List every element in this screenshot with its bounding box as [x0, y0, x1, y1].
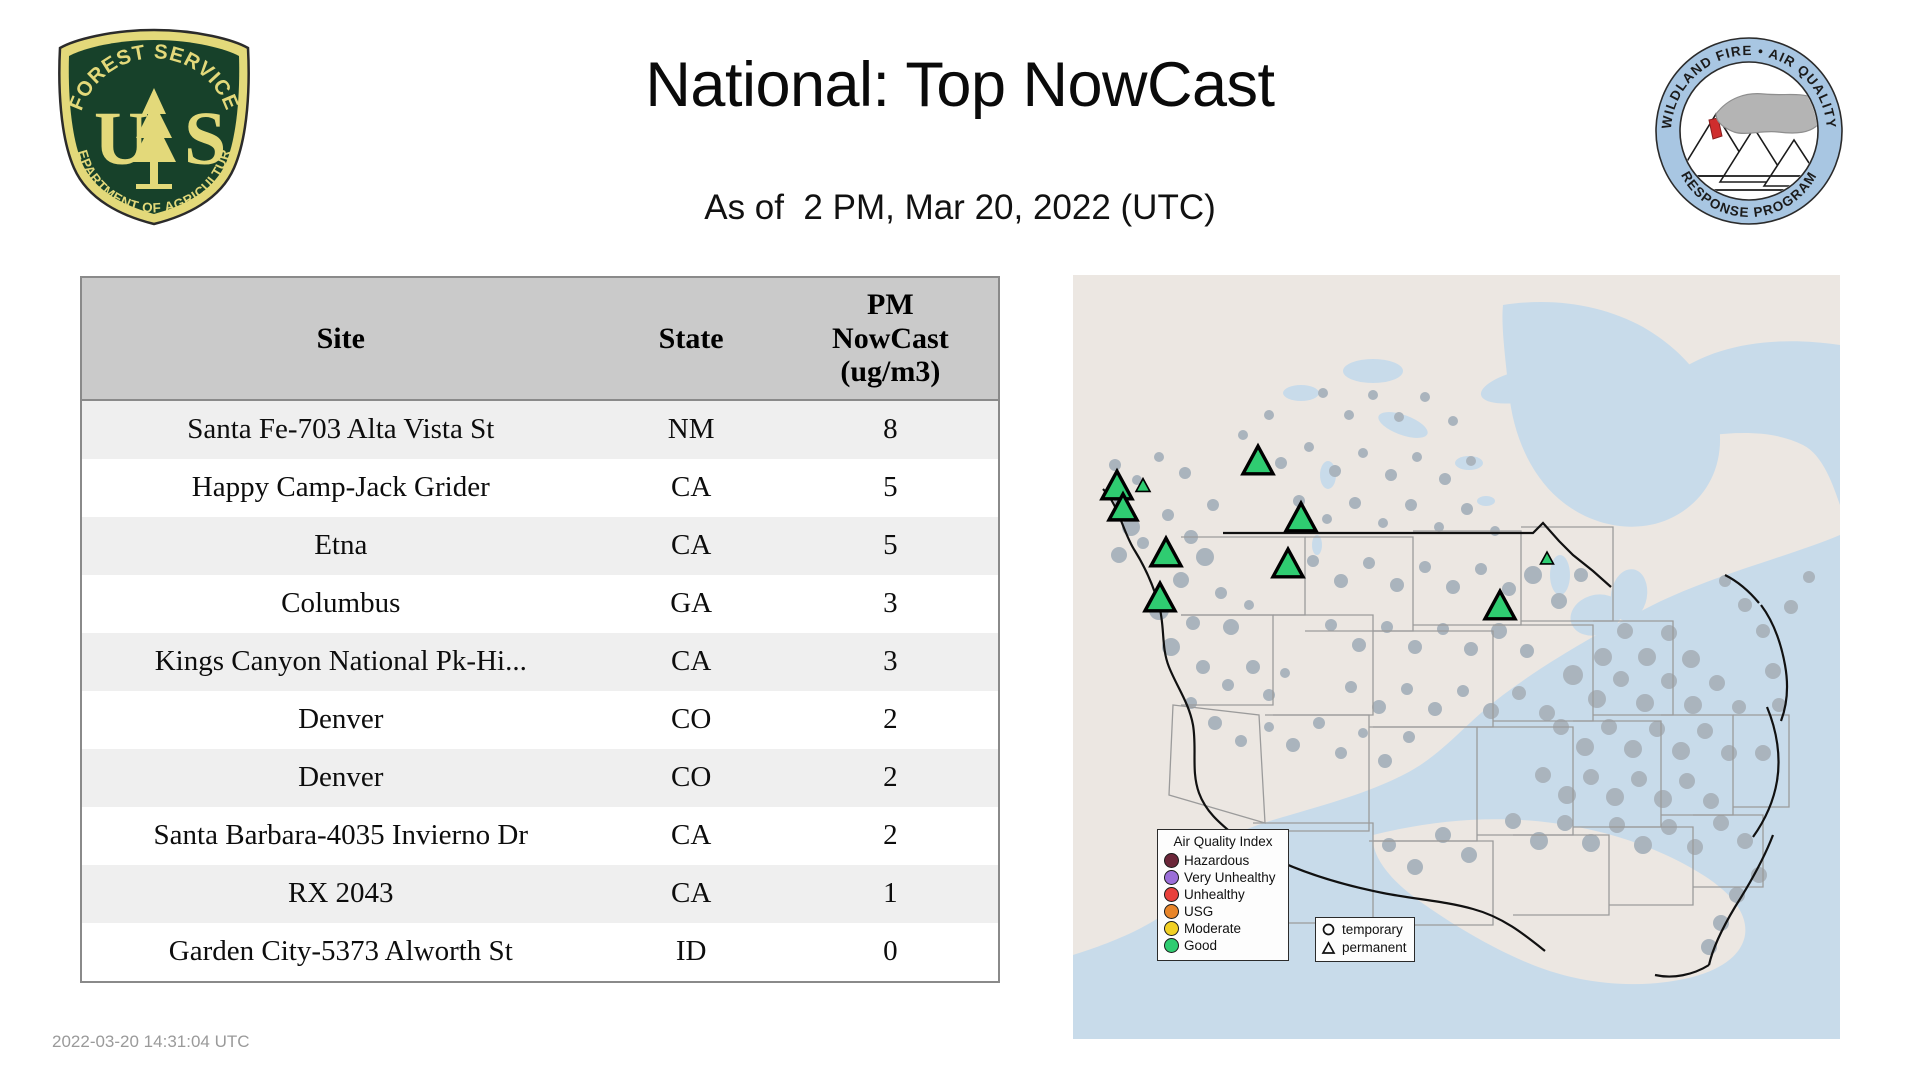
site-cell: Happy Camp-Jack Grider	[82, 459, 600, 517]
state-cell: CA	[600, 807, 783, 865]
column-header-pm-line3: (ug/m3)	[787, 355, 994, 389]
state-cell: CO	[600, 691, 783, 749]
pm-cell: 1	[783, 865, 998, 923]
state-cell: NM	[600, 400, 783, 459]
legend-row-moderate: Moderate	[1164, 920, 1282, 937]
aqi-color-swatch-icon	[1164, 904, 1179, 919]
legend-row-unhealthy: Unhealthy	[1164, 886, 1282, 903]
state-cell: CA	[600, 459, 783, 517]
state-cell: CA	[600, 633, 783, 691]
legend-row-temporary: temporary	[1321, 921, 1407, 939]
table-header-row: Site State PM NowCast (ug/m3)	[82, 278, 998, 400]
table-row[interactable]: DenverCO2	[82, 691, 998, 749]
legend-label: Very Unhealthy	[1184, 871, 1276, 885]
pm-cell: 5	[783, 517, 998, 575]
site-cell: Denver	[82, 691, 600, 749]
table-row[interactable]: Garden City-5373 Alworth StID0	[82, 923, 998, 981]
pm-cell: 2	[783, 749, 998, 807]
column-header-pm-nowcast[interactable]: PM NowCast (ug/m3)	[783, 278, 998, 400]
legend-label: Good	[1184, 939, 1217, 953]
pm-cell: 0	[783, 923, 998, 981]
table-header: Site State PM NowCast (ug/m3)	[82, 278, 998, 400]
column-header-pm-line2: NowCast	[787, 322, 994, 356]
table-row[interactable]: Happy Camp-Jack GriderCA5	[82, 459, 998, 517]
aqi-color-swatch-icon	[1164, 921, 1179, 936]
legend-label: Moderate	[1184, 922, 1241, 936]
column-header-pm-line1: PM	[787, 288, 994, 322]
legend-label-temporary: temporary	[1342, 923, 1403, 937]
table-row[interactable]: DenverCO2	[82, 749, 998, 807]
legend-label: USG	[1184, 905, 1213, 919]
slide-root: FOREST SERVICE U S DEPARTMENT OF AGRICUL…	[0, 0, 1920, 1080]
aqi-color-swatch-icon	[1164, 853, 1179, 868]
site-cell: RX 2043	[82, 865, 600, 923]
permanent-triangle-icon	[1321, 941, 1336, 956]
site-cell: Columbus	[82, 575, 600, 633]
page-subtitle: As of 2 PM, Mar 20, 2022 (UTC)	[0, 188, 1920, 228]
site-cell: Garden City-5373 Alworth St	[82, 923, 600, 981]
legend-row-permanent: permanent	[1321, 939, 1407, 957]
table-row[interactable]: Kings Canyon National Pk-Hi...CA3	[82, 633, 998, 691]
column-header-site[interactable]: Site	[82, 278, 600, 400]
pm-cell: 2	[783, 691, 998, 749]
temporary-circle-icon	[1321, 923, 1336, 938]
legend-row-hazardous: Hazardous	[1164, 852, 1282, 869]
table-row[interactable]: Santa Barbara-4035 Invierno DrCA2	[82, 807, 998, 865]
aqi-color-swatch-icon	[1164, 887, 1179, 902]
aqi-color-swatch-icon	[1164, 938, 1179, 953]
site-cell: Etna	[82, 517, 600, 575]
state-cell: CO	[600, 749, 783, 807]
pm-cell: 5	[783, 459, 998, 517]
table-row[interactable]: ColumbusGA3	[82, 575, 998, 633]
nowcast-table: Site State PM NowCast (ug/m3) Santa Fe-7…	[82, 278, 998, 981]
aqi-legend: Air Quality Index HazardousVery Unhealth…	[1157, 829, 1289, 961]
site-cell: Santa Fe-703 Alta Vista St	[82, 400, 600, 459]
pm-cell: 3	[783, 633, 998, 691]
footer-timestamp: 2022-03-20 14:31:04 UTC	[52, 1032, 250, 1052]
site-cell: Kings Canyon National Pk-Hi...	[82, 633, 600, 691]
legend-row-good: Good	[1164, 937, 1282, 954]
site-cell: Denver	[82, 749, 600, 807]
legend-row-usg: USG	[1164, 903, 1282, 920]
table-body: Santa Fe-703 Alta Vista StNM8Happy Camp-…	[82, 400, 998, 981]
table-row[interactable]: EtnaCA5	[82, 517, 998, 575]
nowcast-table-container: Site State PM NowCast (ug/m3) Santa Fe-7…	[80, 276, 1000, 983]
site-type-legend: temporary permanent	[1315, 917, 1415, 962]
site-cell: Santa Barbara-4035 Invierno Dr	[82, 807, 600, 865]
state-cell: ID	[600, 923, 783, 981]
pm-cell: 2	[783, 807, 998, 865]
column-header-state[interactable]: State	[600, 278, 783, 400]
state-cell: GA	[600, 575, 783, 633]
aqi-color-swatch-icon	[1164, 870, 1179, 885]
pm-cell: 3	[783, 575, 998, 633]
state-cell: CA	[600, 517, 783, 575]
aqi-legend-title: Air Quality Index	[1164, 834, 1282, 849]
legend-label: Hazardous	[1184, 854, 1249, 868]
page-title: National: Top NowCast	[0, 52, 1920, 118]
state-cell: CA	[600, 865, 783, 923]
table-row[interactable]: Santa Fe-703 Alta Vista StNM8	[82, 400, 998, 459]
table-row[interactable]: RX 2043CA1	[82, 865, 998, 923]
legend-label: Unhealthy	[1184, 888, 1245, 902]
pm-cell: 8	[783, 400, 998, 459]
legend-row-very-unhealthy: Very Unhealthy	[1164, 869, 1282, 886]
legend-label-permanent: permanent	[1342, 941, 1407, 955]
